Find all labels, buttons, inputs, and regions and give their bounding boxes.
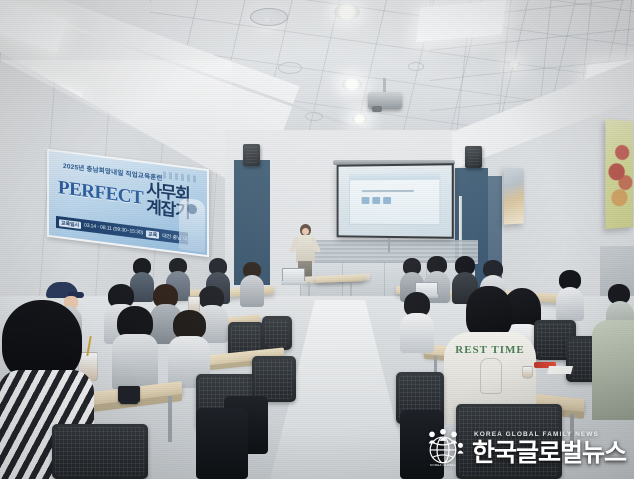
ceiling-air-vent (250, 8, 288, 26)
wall-painting-fruit (605, 119, 633, 229)
ceiling-smoke-detector (278, 62, 302, 74)
slide-ribbon (349, 173, 440, 181)
attendee (592, 320, 634, 420)
laptop (281, 268, 305, 286)
globe-people-icon: KOREA GLOBAL (421, 427, 465, 471)
banner-info-bar: 교육일시 03.14 - 08.11 (09:30~15:30) 교육 대전·충… (56, 216, 188, 245)
news-watermark: KOREA GLOBAL KOREA GLOBAL FAMILY NEWS 한국… (421, 427, 626, 471)
attendee-torso (112, 334, 158, 390)
slide-chart-bar (362, 197, 370, 204)
slide-chart-bar (372, 197, 380, 204)
ceiling-downlight (508, 60, 520, 68)
chair-mesh (255, 359, 293, 399)
watermark-english: KOREA GLOBAL FAMILY NEWS (474, 432, 599, 439)
sweatshirt-graphic-illustration (480, 358, 502, 394)
ceiling-fitting (408, 62, 424, 71)
wall-painting-small (504, 167, 524, 224)
desk-papers (547, 366, 573, 374)
screen-pull-cord (388, 238, 390, 252)
backpack (196, 408, 248, 479)
desk-leg (168, 396, 172, 442)
phone-stand-base (120, 400, 138, 404)
paper-cup (522, 366, 533, 379)
ceiling-downlight (342, 78, 362, 91)
watermark-korean: 한국글로벌뉴스 (472, 441, 626, 466)
wall-speaker-left (243, 144, 260, 166)
attendee (112, 306, 158, 388)
chair (52, 424, 148, 479)
ceiling-downlight (334, 4, 360, 20)
banner-info-label: 교육일시 (59, 219, 81, 229)
attendee (240, 262, 264, 306)
attendee (556, 270, 584, 318)
banner-illustration-person (179, 197, 205, 252)
attendee-torso (240, 275, 264, 307)
chair-mesh (55, 427, 145, 476)
presenter-face (302, 228, 309, 235)
sweatshirt-graphic-text: REST TIME (454, 344, 526, 356)
chair-mesh (265, 319, 289, 347)
wall-speaker-right (465, 146, 482, 168)
banner-title-en: PERFECT (58, 178, 143, 208)
banner-info-label-2: 교육 (146, 230, 159, 239)
chair (262, 316, 292, 350)
ceiling-downlight (352, 114, 367, 124)
laptop-base (281, 281, 305, 285)
slide-text-line (362, 189, 414, 191)
projector-lens (372, 106, 382, 112)
attendee-rest-time-sweatshirt: REST TIME (444, 286, 536, 422)
slide-document (349, 173, 440, 226)
projection-screen (337, 163, 454, 239)
attendee-torso (592, 320, 634, 420)
svg-text:KOREA GLOBAL: KOREA GLOBAL (430, 463, 456, 467)
ceiling-smoke-detector (305, 112, 323, 121)
slide-chart-bar (383, 197, 391, 204)
banner-info-dates: 03.14 - 08.11 (09:30~15:30) (84, 222, 143, 235)
classroom-photo: 2025년 충남희망내일 직업교육훈련 PERFECT 사무회계잡기 교육일시 … (0, 0, 634, 479)
attendee (400, 292, 434, 350)
attendee-torso (556, 287, 584, 321)
attendee-torso (400, 313, 434, 353)
